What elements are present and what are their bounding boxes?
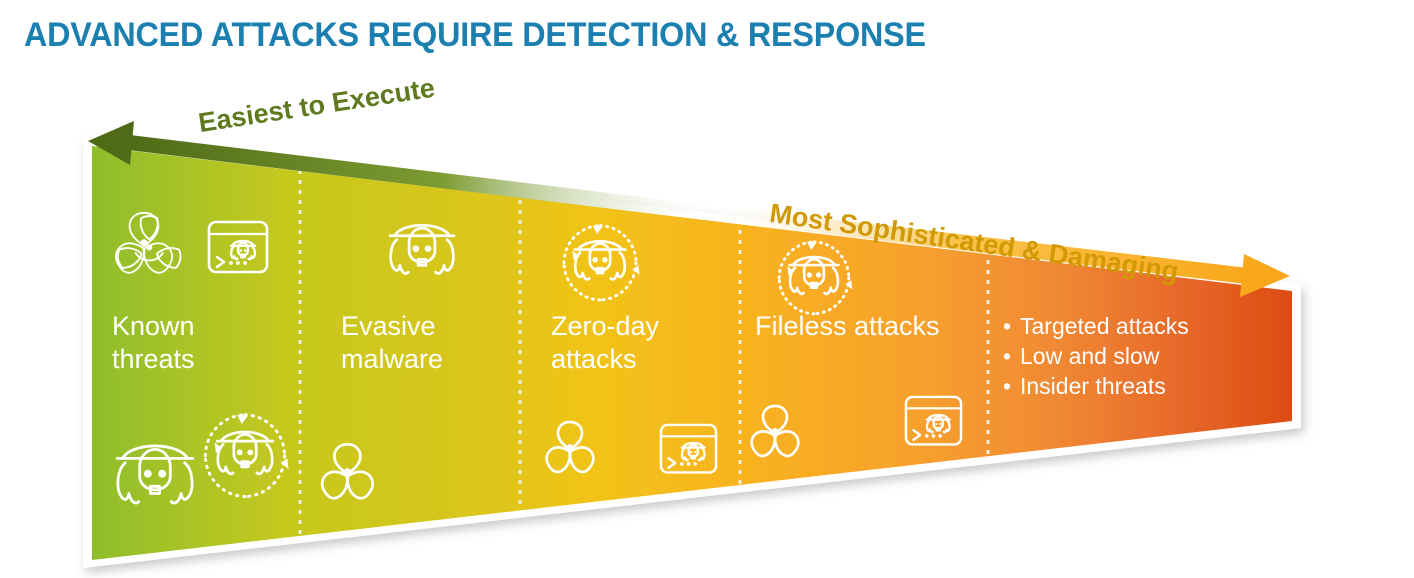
list-item: •Low and slow <box>1003 342 1189 372</box>
segment-label-fileless-attacks: Fileless attacks <box>755 310 940 343</box>
bullet-icon: • <box>1003 372 1020 402</box>
segment-bullets-advanced-threats: •Targeted attacks •Low and slow •Insider… <box>1003 312 1189 402</box>
segment-label-known-threats: Known threats <box>112 310 195 376</box>
segment-label-zero-day-attacks: Zero-day attacks <box>551 310 659 376</box>
list-item: •Insider threats <box>1003 372 1189 402</box>
list-item: •Targeted attacks <box>1003 312 1189 342</box>
bullet-icon: • <box>1003 312 1020 342</box>
segment-label-evasive-malware: Evasive malware <box>341 310 443 376</box>
bullet-icon: • <box>1003 342 1020 372</box>
attack-sophistication-funnel <box>0 0 1414 578</box>
slide-canvas: ADVANCED ATTACKS REQUIRE DETECTION & RES… <box>0 0 1414 578</box>
